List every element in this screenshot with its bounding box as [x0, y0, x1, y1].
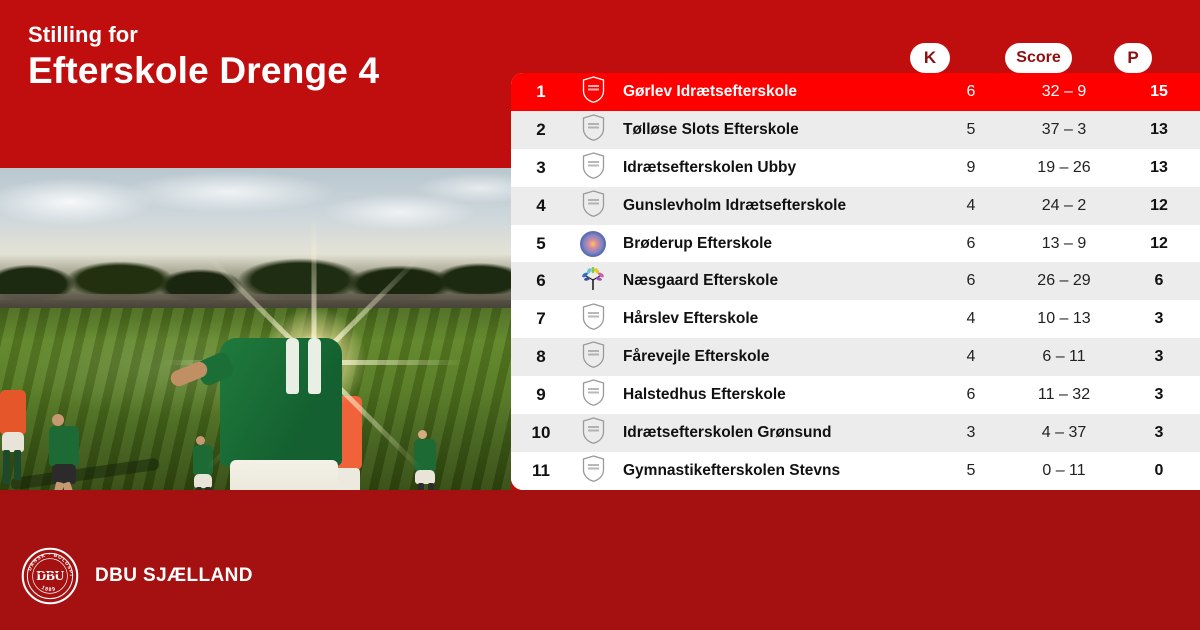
row-points: 0: [1118, 462, 1200, 480]
row-matches: 6: [932, 272, 1010, 290]
header-subtitle: Stilling for: [28, 22, 138, 48]
table-row[interactable]: 9Halstedhus Efterskole611 – 323: [511, 376, 1200, 414]
football-photo: [0, 168, 511, 490]
row-points: 12: [1118, 197, 1200, 215]
row-team-name: Halstedhus Efterskole: [615, 386, 932, 404]
row-crest: [571, 267, 615, 296]
table-row[interactable]: 7Hårslev Efterskole410 – 133: [511, 300, 1200, 338]
row-score: 4 – 37: [1010, 424, 1118, 442]
row-score: 6 – 11: [1010, 348, 1118, 366]
row-position: 8: [511, 347, 571, 367]
footer-band: [0, 490, 1200, 630]
row-team-name: Gørlev Idrætsefterskole: [615, 83, 932, 101]
club-crest-icon: [582, 76, 605, 108]
row-crest: [571, 303, 615, 335]
row-position: 6: [511, 271, 571, 291]
club-crest-icon: [580, 231, 606, 257]
column-header-k: K: [910, 43, 950, 73]
row-crest: [571, 379, 615, 411]
row-score: 26 – 29: [1010, 272, 1118, 290]
row-points: 3: [1118, 348, 1200, 366]
row-score: 11 – 32: [1010, 386, 1118, 404]
club-crest-icon: [580, 267, 606, 296]
footer-label: DBU SJÆLLAND: [95, 565, 253, 587]
row-score: 0 – 11: [1010, 462, 1118, 480]
row-matches: 3: [932, 424, 1010, 442]
table-row[interactable]: 10Idrætsefterskolen Grønsund34 – 373: [511, 414, 1200, 452]
row-matches: 4: [932, 197, 1010, 215]
row-team-name: Brøderup Efterskole: [615, 235, 932, 253]
row-matches: 5: [932, 462, 1010, 480]
svg-text:DBU: DBU: [36, 569, 64, 584]
column-header-score: Score: [1005, 43, 1072, 73]
table-row[interactable]: 3Idrætsefterskolen Ubby919 – 2613: [511, 149, 1200, 187]
row-matches: 9: [932, 159, 1010, 177]
row-crest: [571, 455, 615, 487]
row-team-name: Idrætsefterskolen Ubby: [615, 159, 932, 177]
club-crest-icon: [582, 303, 605, 335]
row-points: 12: [1118, 235, 1200, 253]
row-points: 6: [1118, 272, 1200, 290]
row-points: 15: [1118, 83, 1200, 101]
table-row[interactable]: 1Gørlev Idrætsefterskole632 – 915: [511, 73, 1200, 111]
club-crest-icon: [582, 190, 605, 222]
row-points: 3: [1118, 310, 1200, 328]
row-team-name: Tølløse Slots Efterskole: [615, 121, 932, 139]
row-crest: [571, 190, 615, 222]
row-crest: [571, 114, 615, 146]
table-row[interactable]: 4Gunslevholm Idrætsefterskole424 – 212: [511, 187, 1200, 225]
row-points: 3: [1118, 386, 1200, 404]
row-crest: [571, 417, 615, 449]
row-team-name: Næsgaard Efterskole: [615, 272, 932, 290]
row-position: 5: [511, 234, 571, 254]
row-team-name: Hårslev Efterskole: [615, 310, 932, 328]
row-score: 19 – 26: [1010, 159, 1118, 177]
row-crest: [571, 341, 615, 373]
dbu-logo: DANSK · BOLDSPIL · UNION 1889 DBU: [21, 547, 79, 605]
club-crest-icon: [582, 379, 605, 411]
row-team-name: Gymnastikefterskolen Stevns: [615, 462, 932, 480]
row-points: 13: [1118, 121, 1200, 139]
row-team-name: Fårevejle Efterskole: [615, 348, 932, 366]
club-crest-icon: [582, 455, 605, 487]
table-row[interactable]: 6Næsgaard Efterskole626 – 296: [511, 262, 1200, 300]
standings-table[interactable]: 1Gørlev Idrætsefterskole632 – 9152Tølløs…: [511, 73, 1200, 490]
poster-root: Stilling for Efterskole Drenge 4: [0, 0, 1200, 630]
row-position: 3: [511, 158, 571, 178]
row-matches: 4: [932, 348, 1010, 366]
row-position: 2: [511, 120, 571, 140]
column-header-p: P: [1114, 43, 1152, 73]
row-crest: [571, 152, 615, 184]
club-crest-icon: [582, 114, 605, 146]
row-matches: 6: [932, 386, 1010, 404]
row-position: 10: [511, 423, 571, 443]
club-crest-icon: [582, 152, 605, 184]
row-score: 37 – 3: [1010, 121, 1118, 139]
row-score: 32 – 9: [1010, 83, 1118, 101]
row-matches: 5: [932, 121, 1010, 139]
row-score: 24 – 2: [1010, 197, 1118, 215]
row-crest: [571, 231, 615, 257]
row-position: 7: [511, 309, 571, 329]
row-position: 11: [511, 461, 571, 481]
row-team-name: Idrætsefterskolen Grønsund: [615, 424, 932, 442]
table-row[interactable]: 8Fårevejle Efterskole46 – 113: [511, 338, 1200, 376]
row-matches: 6: [932, 83, 1010, 101]
row-position: 4: [511, 196, 571, 216]
club-crest-icon: [582, 341, 605, 373]
row-score: 13 – 9: [1010, 235, 1118, 253]
row-position: 1: [511, 82, 571, 102]
row-score: 10 – 13: [1010, 310, 1118, 328]
table-row[interactable]: 5Brøderup Efterskole613 – 912: [511, 225, 1200, 263]
club-crest-icon: [582, 417, 605, 449]
row-points: 13: [1118, 159, 1200, 177]
row-points: 3: [1118, 424, 1200, 442]
row-matches: 6: [932, 235, 1010, 253]
row-team-name: Gunslevholm Idrætsefterskole: [615, 197, 932, 215]
table-row[interactable]: 11Gymnastikefterskolen Stevns50 – 110: [511, 452, 1200, 490]
row-crest: [571, 76, 615, 108]
row-position: 9: [511, 385, 571, 405]
page-title: Efterskole Drenge 4: [28, 50, 379, 92]
row-matches: 4: [932, 310, 1010, 328]
table-row[interactable]: 2Tølløse Slots Efterskole537 – 313: [511, 111, 1200, 149]
